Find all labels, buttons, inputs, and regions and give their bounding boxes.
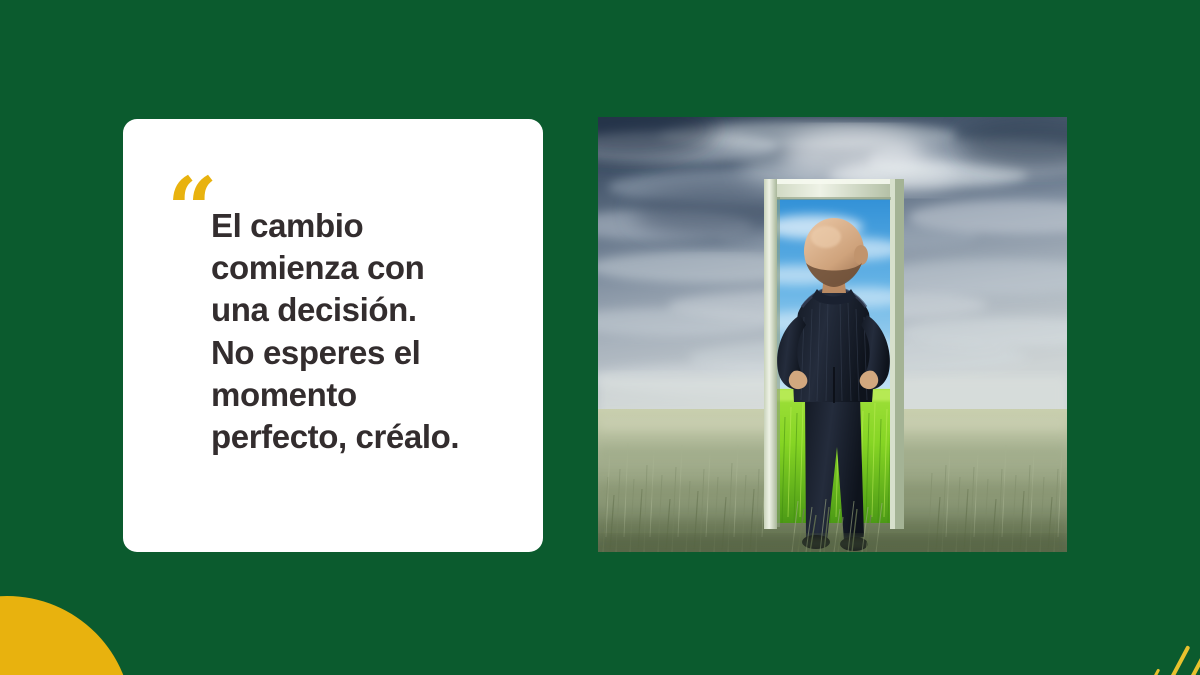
quote-card: “ El cambio comienza con una decisión. N…: [123, 119, 543, 552]
photo-illustration: [598, 117, 1067, 552]
stripe-3: [1150, 645, 1190, 675]
quote-mark-icon: “: [167, 165, 215, 253]
quote-slide: “ El cambio comienza con una decisión. N…: [0, 0, 1200, 675]
stripe-4: [1133, 668, 1160, 675]
yellow-diagonal-stripes-decoration: [1080, 585, 1200, 675]
photo-doorway-in-field: [598, 117, 1067, 552]
yellow-circle-decoration: [0, 596, 132, 675]
quote-text: El cambio comienza con una decisión. No …: [211, 205, 503, 458]
stripe-2: [1170, 626, 1200, 675]
stripe-1: [1189, 608, 1200, 675]
